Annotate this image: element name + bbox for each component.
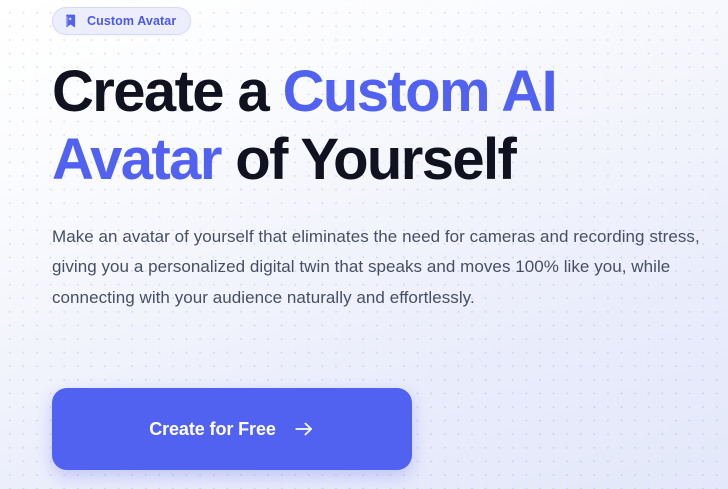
headline-line-2: Avatar of Yourself <box>52 126 702 194</box>
page-title: Create a Custom AI Avatar of Yourself <box>52 58 702 194</box>
cta-label: Create for Free <box>149 419 276 440</box>
badge-label: Custom Avatar <box>87 14 176 28</box>
headline-accent-avatar: Avatar <box>52 127 221 192</box>
hero-section: Custom Avatar Create a Custom AI Avatar … <box>0 0 728 489</box>
create-for-free-button[interactable]: Create for Free <box>52 388 412 470</box>
bookmark-sparkle-icon <box>63 13 79 29</box>
custom-avatar-badge[interactable]: Custom Avatar <box>52 7 191 35</box>
headline-accent-custom-ai: Custom AI <box>283 59 556 124</box>
headline-line-1: Create a Custom AI <box>52 58 702 126</box>
headline-text-create-a: Create a <box>52 59 283 124</box>
headline-text-of-yourself: of Yourself <box>221 127 515 192</box>
arrow-right-icon <box>293 418 315 440</box>
badge-row: Custom Avatar <box>52 7 191 35</box>
hero-content: Custom Avatar Create a Custom AI Avatar … <box>0 0 728 489</box>
hero-description: Make an avatar of yourself that eliminat… <box>52 222 700 313</box>
